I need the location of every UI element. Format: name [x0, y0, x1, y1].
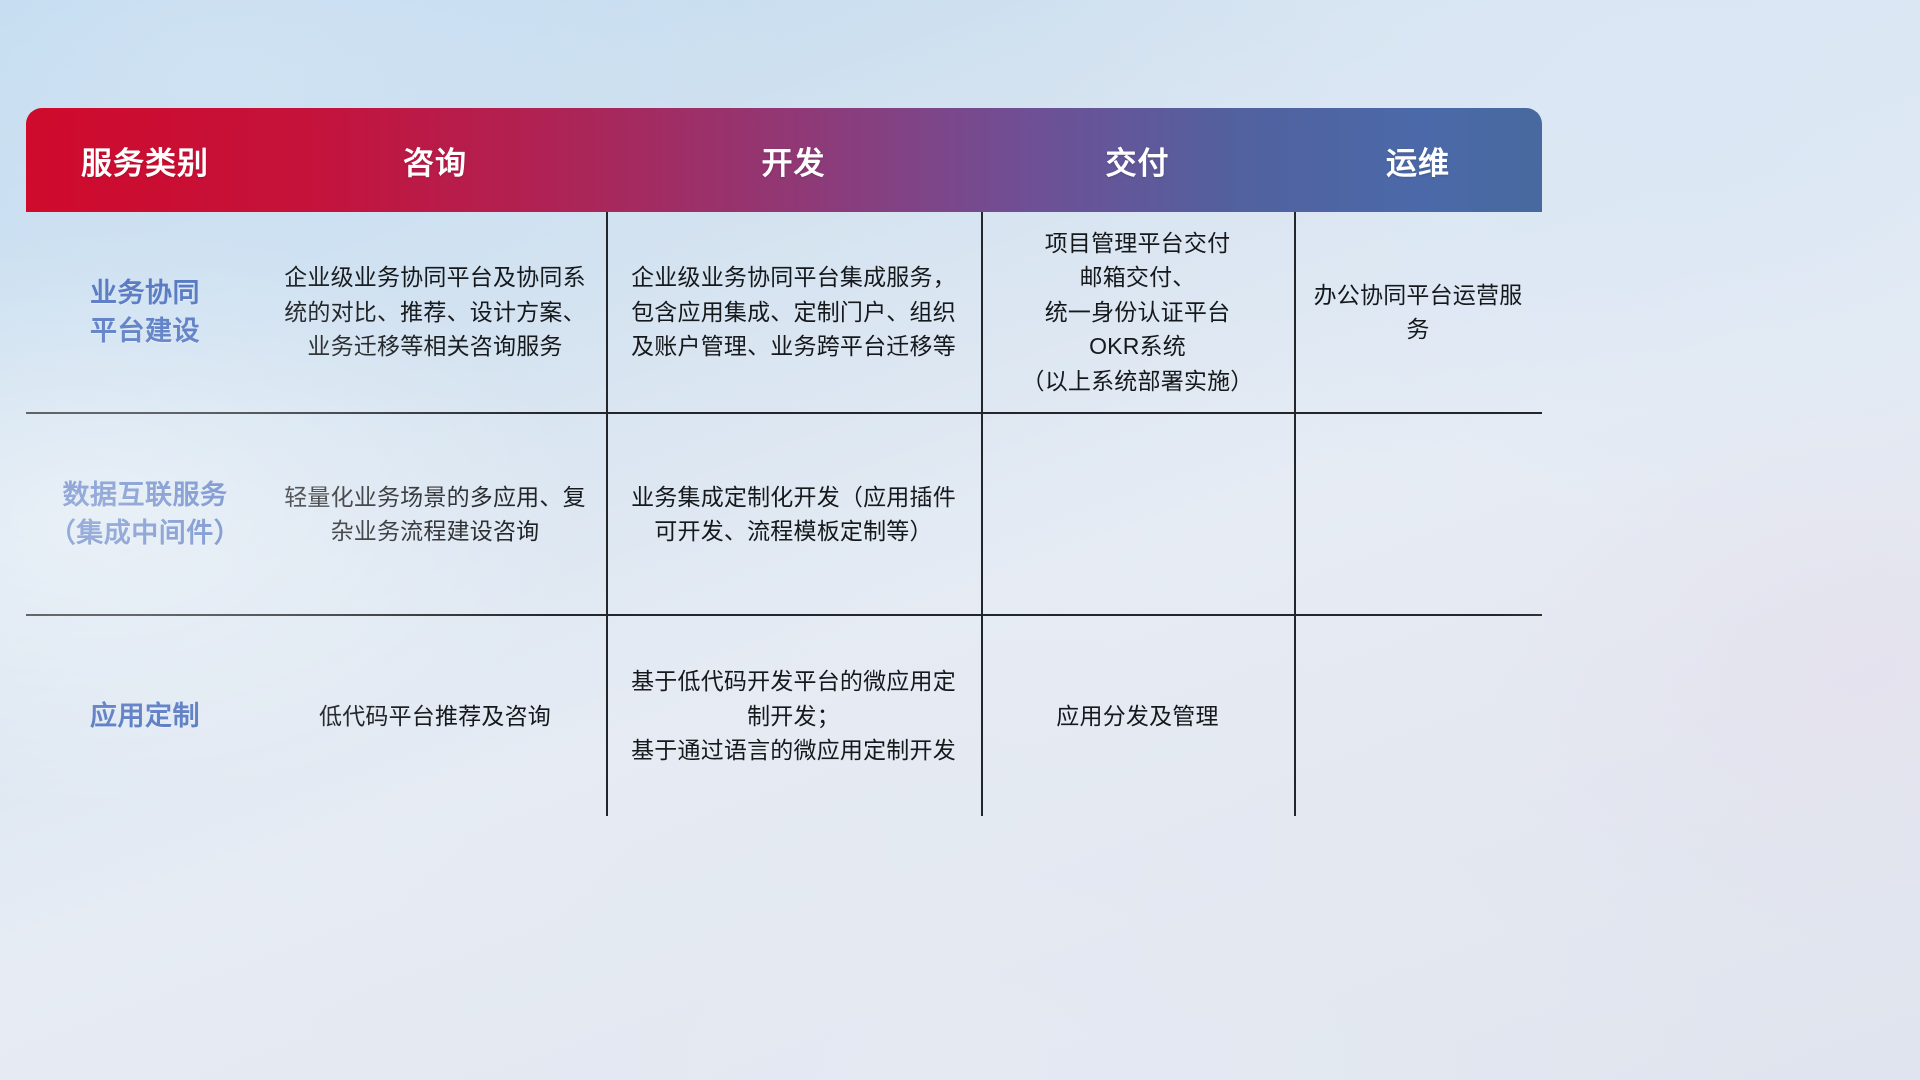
column-header-development: 开发 [606, 108, 981, 212]
column-header-operations-label: 运维 [1386, 138, 1450, 183]
table-row: 业务协同 平台建设 企业级业务协同平台及协同系 统的对比、推荐、设计方案、 业务… [26, 212, 1542, 414]
cell-development-text: 基于低代码开发平台的微应用定 制开发； 基于通过语言的微应用定制开发 [631, 664, 956, 768]
cell-delivery-text: 项目管理平台交付 邮箱交付、 统一身份认证平台 OKR系统 （以上系统部署实施） [1022, 226, 1254, 399]
cell-delivery-text: 应用分发及管理 [1056, 699, 1218, 734]
cell-development-text: 业务集成定制化开发（应用插件 可开发、流程模板定制等） [631, 480, 956, 549]
cell-delivery [981, 414, 1294, 614]
cell-consulting: 轻量化业务场景的多应用、复 杂业务流程建设咨询 [264, 414, 606, 614]
table-row: 应用定制 低代码平台推荐及咨询 基于低代码开发平台的微应用定 制开发； 基于通过… [26, 616, 1542, 816]
cell-delivery: 项目管理平台交付 邮箱交付、 统一身份认证平台 OKR系统 （以上系统部署实施） [981, 212, 1294, 412]
cell-consulting-text: 企业级业务协同平台及协同系 统的对比、推荐、设计方案、 业务迁移等相关咨询服务 [284, 260, 586, 364]
column-header-consulting-label: 咨询 [403, 138, 467, 183]
cell-consulting-text: 低代码平台推荐及咨询 [319, 699, 551, 734]
column-header-consulting: 咨询 [264, 108, 606, 212]
column-header-development-label: 开发 [762, 138, 826, 183]
cell-operations [1294, 414, 1542, 614]
table-body: 业务协同 平台建设 企业级业务协同平台及协同系 统的对比、推荐、设计方案、 业务… [26, 212, 1542, 816]
service-matrix-table: 服务类别 咨询 开发 交付 运维 业务协同 平台建设 [26, 108, 1542, 816]
row-label-cell: 数据互联服务 （集成中间件） [26, 414, 264, 614]
cell-consulting-text: 轻量化业务场景的多应用、复 杂业务流程建设咨询 [284, 480, 586, 549]
cell-operations [1294, 616, 1542, 816]
row-label-text: 应用定制 [90, 697, 200, 735]
row-label-cell: 应用定制 [26, 616, 264, 816]
cell-operations-text: 办公协同平台运营服务 [1306, 278, 1530, 347]
cell-development-text: 企业级业务协同平台集成服务， 包含应用集成、定制门户、组织 及账户管理、业务跨平… [631, 260, 956, 364]
cell-operations: 办公协同平台运营服务 [1294, 212, 1542, 412]
column-header-delivery-label: 交付 [1106, 138, 1170, 183]
cell-consulting: 低代码平台推荐及咨询 [264, 616, 606, 816]
column-header-category-label: 服务类别 [81, 138, 209, 183]
cell-delivery: 应用分发及管理 [981, 616, 1294, 816]
column-header-category: 服务类别 [26, 108, 264, 212]
column-header-delivery: 交付 [981, 108, 1294, 212]
row-label-text: 数据互联服务 （集成中间件） [49, 476, 242, 553]
row-label-cell: 业务协同 平台建设 [26, 212, 264, 412]
cell-consulting: 企业级业务协同平台及协同系 统的对比、推荐、设计方案、 业务迁移等相关咨询服务 [264, 212, 606, 412]
row-label-text: 业务协同 平台建设 [90, 274, 200, 351]
cell-development: 基于低代码开发平台的微应用定 制开发； 基于通过语言的微应用定制开发 [606, 616, 981, 816]
cell-development: 业务集成定制化开发（应用插件 可开发、流程模板定制等） [606, 414, 981, 614]
column-header-operations: 运维 [1294, 108, 1542, 212]
table-header-row: 服务类别 咨询 开发 交付 运维 [26, 108, 1542, 212]
table-row: 数据互联服务 （集成中间件） 轻量化业务场景的多应用、复 杂业务流程建设咨询 业… [26, 414, 1542, 616]
cell-development: 企业级业务协同平台集成服务， 包含应用集成、定制门户、组织 及账户管理、业务跨平… [606, 212, 981, 412]
slide-canvas: 服务类别 咨询 开发 交付 运维 业务协同 平台建设 [0, 0, 1920, 1080]
